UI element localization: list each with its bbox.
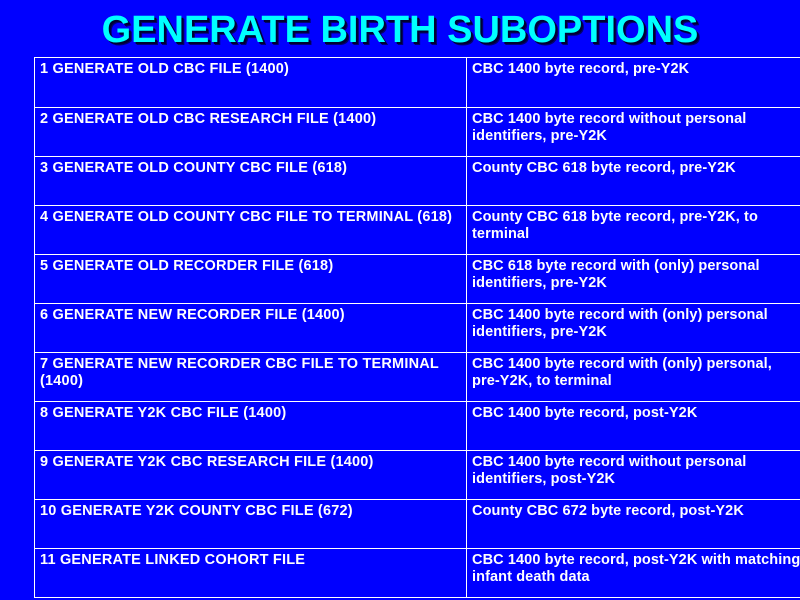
table-row[interactable]: 11 GENERATE LINKED COHORT FILE CBC 1400 … xyxy=(35,549,800,598)
option-description: CBC 1400 byte record, post-Y2K with matc… xyxy=(467,549,800,598)
option-description: CBC 1400 byte record without personal id… xyxy=(467,451,800,500)
option-description: CBC 1400 byte record, post-Y2K xyxy=(467,402,800,451)
table-row[interactable]: 10 GENERATE Y2K COUNTY CBC FILE (672) Co… xyxy=(35,500,800,549)
option-label: 7 GENERATE NEW RECORDER CBC FILE TO TERM… xyxy=(35,353,467,402)
option-description: CBC 1400 byte record with (only) persona… xyxy=(467,353,800,402)
table-row[interactable]: 5 GENERATE OLD RECORDER FILE (618) CBC 6… xyxy=(35,255,800,304)
suboptions-table: 1 GENERATE OLD CBC FILE (1400) CBC 1400 … xyxy=(34,57,800,598)
option-label: 1 GENERATE OLD CBC FILE (1400) xyxy=(35,58,467,108)
option-description: County CBC 672 byte record, post-Y2K xyxy=(467,500,800,549)
table-row[interactable]: 3 GENERATE OLD COUNTY CBC FILE (618) Cou… xyxy=(35,157,800,206)
option-label: 11 GENERATE LINKED COHORT FILE xyxy=(35,549,467,598)
table-row[interactable]: 6 GENERATE NEW RECORDER FILE (1400) CBC … xyxy=(35,304,800,353)
option-label: 10 GENERATE Y2K COUNTY CBC FILE (672) xyxy=(35,500,467,549)
option-label: 6 GENERATE NEW RECORDER FILE (1400) xyxy=(35,304,467,353)
page-title: GENERATE BIRTH SUBOPTIONS xyxy=(0,8,800,52)
option-label: 8 GENERATE Y2K CBC FILE (1400) xyxy=(35,402,467,451)
option-description: County CBC 618 byte record, pre-Y2K, to … xyxy=(467,206,800,255)
option-label: 3 GENERATE OLD COUNTY CBC FILE (618) xyxy=(35,157,467,206)
option-description: CBC 1400 byte record with (only) persona… xyxy=(467,304,800,353)
table-row[interactable]: 8 GENERATE Y2K CBC FILE (1400) CBC 1400 … xyxy=(35,402,800,451)
option-description: CBC 1400 byte record without personal id… xyxy=(467,108,800,157)
option-label: 5 GENERATE OLD RECORDER FILE (618) xyxy=(35,255,467,304)
option-label: 4 GENERATE OLD COUNTY CBC FILE TO TERMIN… xyxy=(35,206,467,255)
table-row[interactable]: 9 GENERATE Y2K CBC RESEARCH FILE (1400) … xyxy=(35,451,800,500)
table-row[interactable]: 1 GENERATE OLD CBC FILE (1400) CBC 1400 … xyxy=(35,58,800,108)
table-row[interactable]: 4 GENERATE OLD COUNTY CBC FILE TO TERMIN… xyxy=(35,206,800,255)
option-description: County CBC 618 byte record, pre-Y2K xyxy=(467,157,800,206)
option-label: 9 GENERATE Y2K CBC RESEARCH FILE (1400) xyxy=(35,451,467,500)
table-row[interactable]: 2 GENERATE OLD CBC RESEARCH FILE (1400) … xyxy=(35,108,800,157)
option-description: CBC 1400 byte record, pre-Y2K xyxy=(467,58,800,108)
option-label: 2 GENERATE OLD CBC RESEARCH FILE (1400) xyxy=(35,108,467,157)
option-description: CBC 618 byte record with (only) personal… xyxy=(467,255,800,304)
table-row[interactable]: 7 GENERATE NEW RECORDER CBC FILE TO TERM… xyxy=(35,353,800,402)
